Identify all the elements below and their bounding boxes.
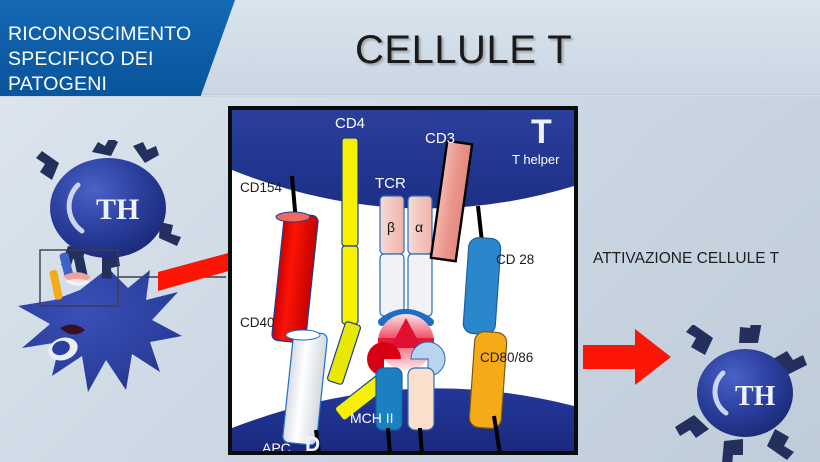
right-red-arrow	[583, 329, 671, 385]
left-red-arrow	[158, 252, 230, 291]
mhc-right-anchor	[420, 428, 422, 451]
dendritic-cell-body	[18, 268, 182, 392]
svg-text:β: β	[387, 219, 395, 235]
svg-text:TH: TH	[735, 381, 776, 412]
label-apc: APC	[262, 440, 291, 455]
header-banner-text: RICONOSCIMENTO SPECIFICO DEI PATOGENI	[8, 22, 208, 97]
svg-text:TH: TH	[96, 193, 139, 226]
left-figure: TH	[0, 140, 230, 462]
label-cd8086: CD80/86	[480, 350, 533, 365]
left-t-cell: TH	[36, 140, 181, 279]
right-figure-graphic: TH	[583, 325, 820, 462]
label-cd4: CD4	[335, 115, 365, 132]
cd8086-molecule	[469, 331, 508, 429]
cd28-stem	[478, 206, 482, 242]
label-cd28: CD 28	[496, 252, 534, 267]
right-t-cell: TH	[675, 325, 807, 462]
label-tcr: TCR	[375, 175, 406, 192]
tcr-alpha-chain	[408, 196, 432, 316]
label-cd40: CD40	[240, 315, 275, 330]
synapse-detail-panel: β α CD4 CD3 TCR T	[228, 106, 578, 455]
label-t-helper: T helper	[512, 152, 559, 167]
label-mhc-ii: MCH II	[350, 410, 394, 426]
apc-glyph: D	[305, 434, 320, 455]
page-title: CELLULE T	[355, 28, 572, 73]
svg-text:α: α	[415, 219, 423, 235]
label-cd3: CD3	[425, 130, 455, 147]
slide-canvas: RICONOSCIMENTO SPECIFICO DEI PATOGENI CE…	[0, 0, 820, 462]
t-helper-glyph: T	[531, 115, 552, 149]
left-figure-graphic: TH	[0, 140, 230, 462]
right-figure: TH	[583, 325, 820, 462]
mhc-left-anchor	[388, 428, 390, 451]
label-cd154: CD154	[240, 180, 282, 195]
mhc-stem-right	[408, 368, 434, 430]
right-caption: ATTIVAZIONE CELLULE T	[593, 250, 779, 268]
cd154-molecule	[271, 212, 318, 343]
tcr-beta-chain	[380, 196, 404, 316]
